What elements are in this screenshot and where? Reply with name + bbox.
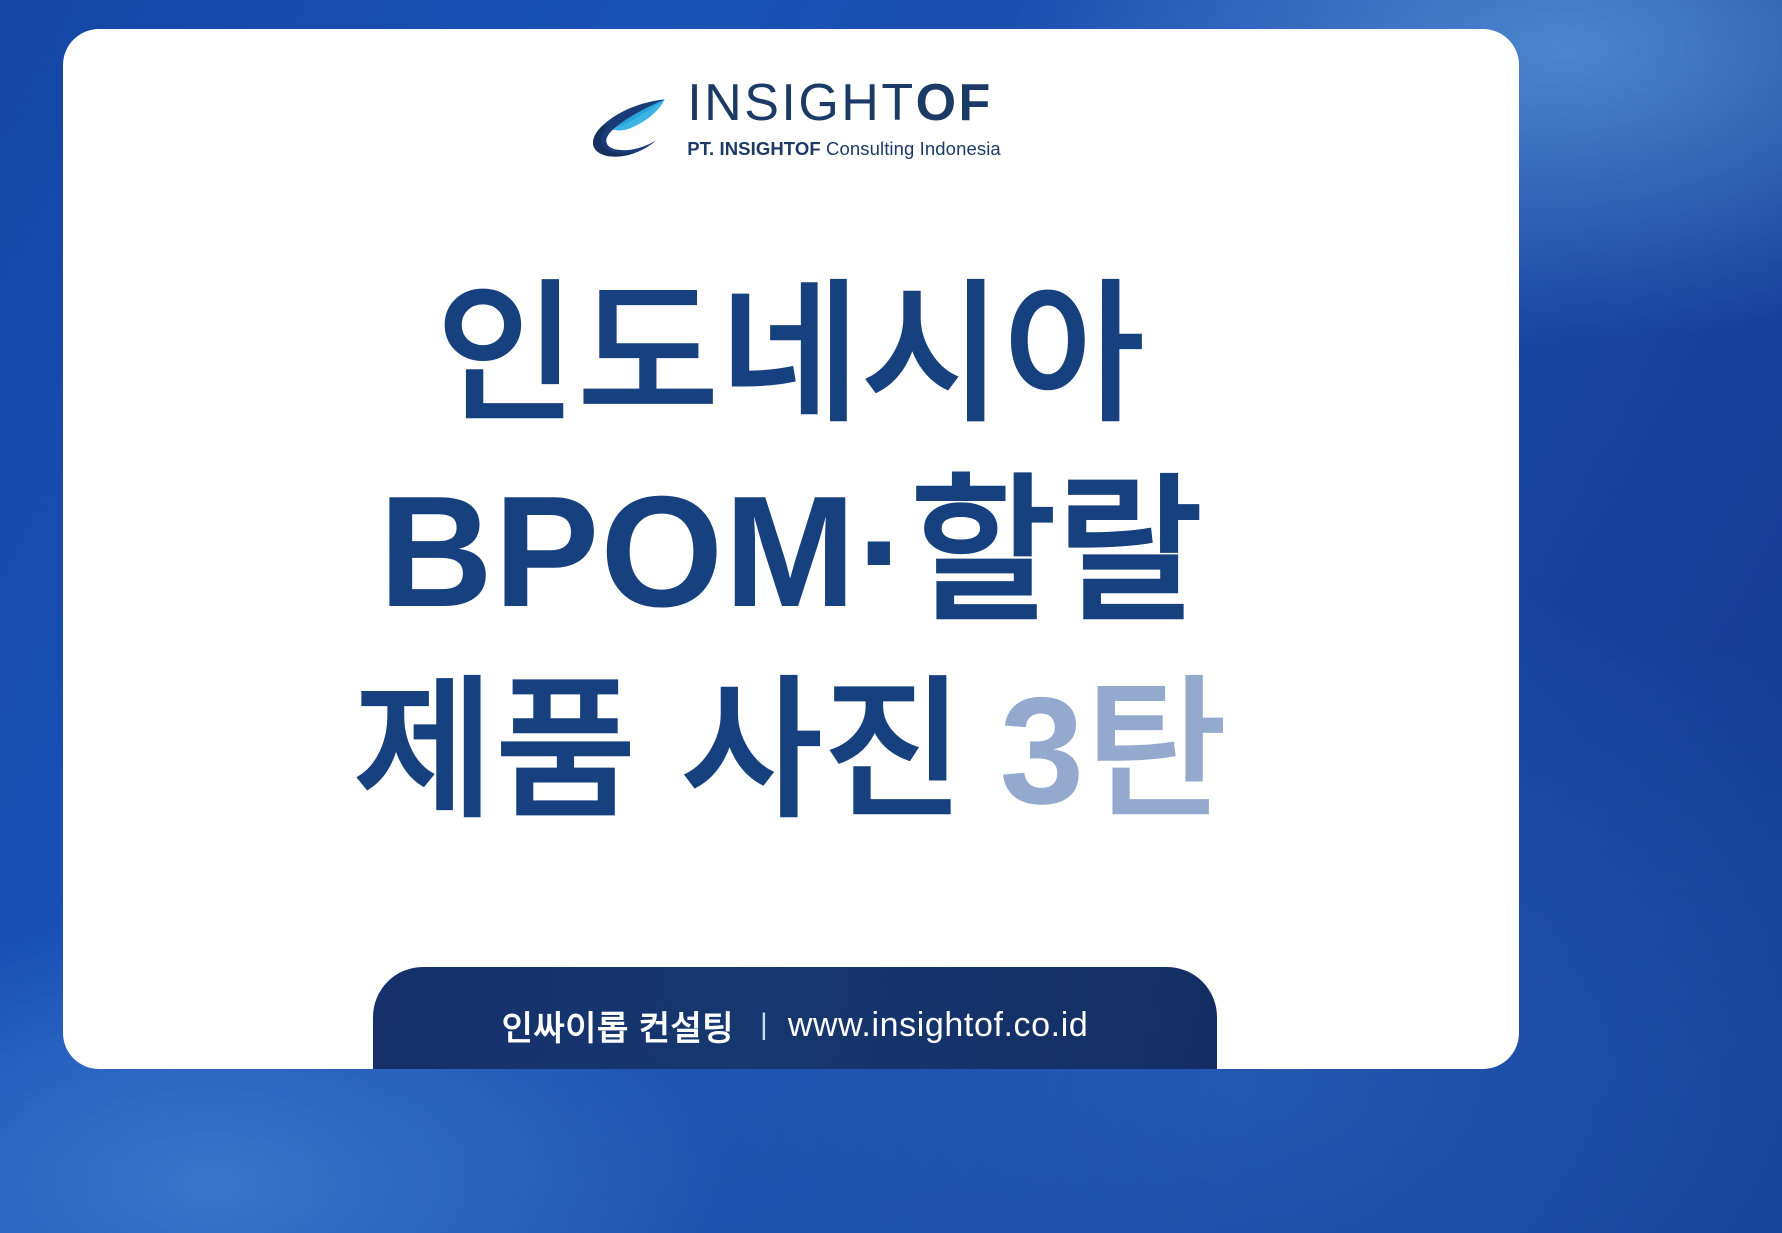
- brand-logo: INSIGHTOF PT. INSIGHTOF Consulting Indon…: [63, 67, 1519, 161]
- leaf-swoosh-icon: [581, 81, 671, 161]
- logo-wordmark: INSIGHTOF: [687, 77, 1001, 129]
- headline-line-3: 제품 사진3탄: [63, 675, 1519, 827]
- headline-line-2: BPOM·할랄: [63, 473, 1519, 631]
- headline-line-1: 인도네시아: [63, 279, 1519, 431]
- headline-block: 인도네시아 BPOM·할랄 제품 사진3탄: [63, 279, 1519, 827]
- headline-accent-episode: 3탄: [1000, 666, 1228, 836]
- footer-divider: |: [760, 1008, 768, 1042]
- logo-wordmark-insight: INSIGHT: [687, 74, 915, 132]
- logo-tagline-company: PT. INSIGHTOF: [687, 138, 821, 159]
- headline-line-3-text: 제품 사진: [354, 666, 966, 836]
- logo-wordmark-of: OF: [916, 74, 993, 132]
- footer-website-url[interactable]: www.insightof.co.id: [788, 1006, 1089, 1045]
- content-card: INSIGHTOF PT. INSIGHTOF Consulting Indon…: [63, 29, 1519, 1069]
- logo-tagline: PT. INSIGHTOF Consulting Indonesia: [687, 138, 1001, 160]
- footer-bar: 인싸이롭 컨설팅 | www.insightof.co.id: [373, 967, 1217, 1069]
- logo-tagline-suffix: Consulting Indonesia: [821, 138, 1001, 159]
- slide-canvas: INSIGHTOF PT. INSIGHTOF Consulting Indon…: [0, 0, 1782, 1233]
- footer-brand-name: 인싸이롭 컨설팅: [502, 1001, 734, 1050]
